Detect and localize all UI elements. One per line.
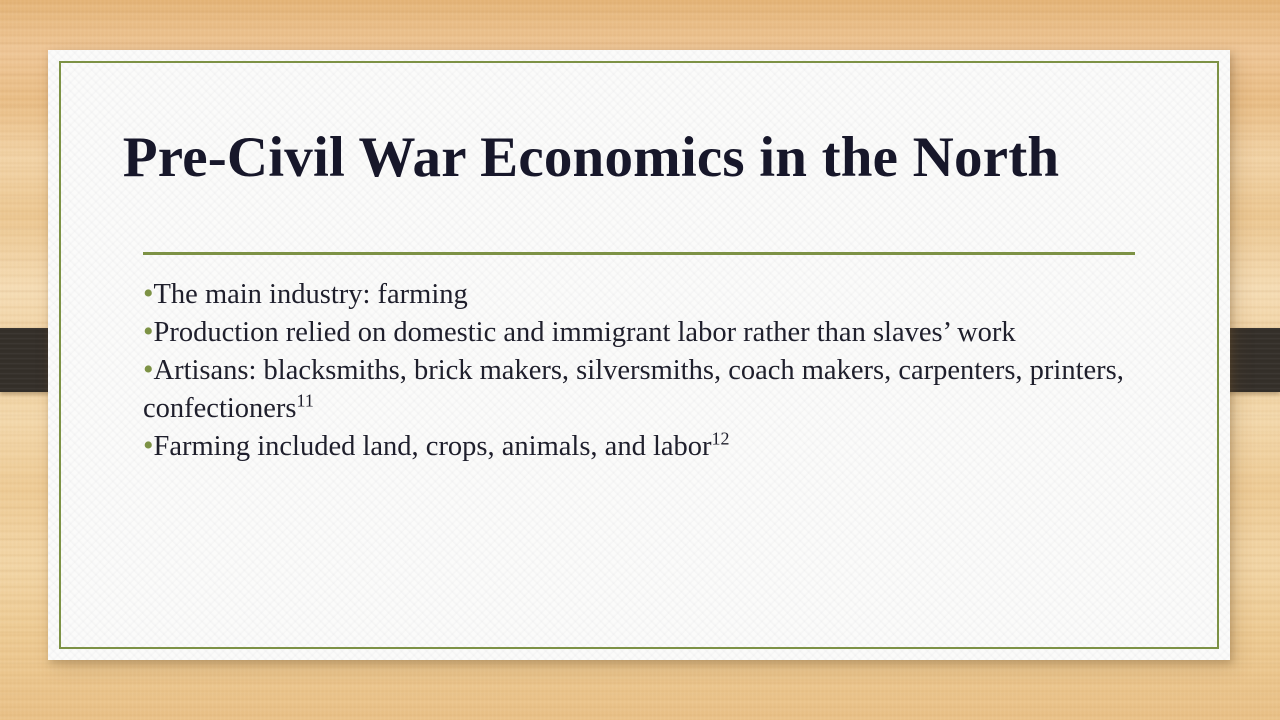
list-item: •Production relied on domestic and immig…	[143, 314, 1143, 352]
list-item-text: The main industry: farming	[154, 279, 468, 310]
slide-content: Pre-Civil War Economics in the North •Th…	[0, 0, 1280, 720]
slide-canvas: Pre-Civil War Economics in the North •Th…	[0, 0, 1280, 720]
list-item-body: Production relied on domestic and immigr…	[154, 317, 1016, 348]
list-item-body: Farming included land, crops, animals, a…	[154, 431, 712, 462]
list-item-text: Artisans: blacksmiths, brick makers, sil…	[143, 355, 1124, 424]
footnote-reference: 11	[297, 390, 314, 410]
bullet-dot-icon: •	[143, 429, 154, 462]
bullet-list: •The main industry: farming •Production …	[143, 276, 1143, 465]
bullet-dot-icon: •	[143, 353, 154, 386]
list-item: •Artisans: blacksmiths, brick makers, si…	[143, 352, 1143, 428]
slide-title: Pre-Civil War Economics in the North	[96, 128, 1086, 188]
list-item-body: Artisans: blacksmiths, brick makers, sil…	[143, 355, 1124, 424]
list-item-text: Farming included land, crops, animals, a…	[154, 431, 730, 462]
bullet-dot-icon: •	[143, 277, 154, 310]
bullet-dot-icon: •	[143, 315, 154, 348]
list-item-body: The main industry: farming	[154, 279, 468, 310]
list-item: •Farming included land, crops, animals, …	[143, 428, 1143, 466]
list-item: •The main industry: farming	[143, 276, 1143, 314]
footnote-reference: 12	[712, 428, 730, 448]
title-divider-rule	[143, 252, 1135, 255]
list-item-text: Production relied on domestic and immigr…	[154, 317, 1016, 348]
